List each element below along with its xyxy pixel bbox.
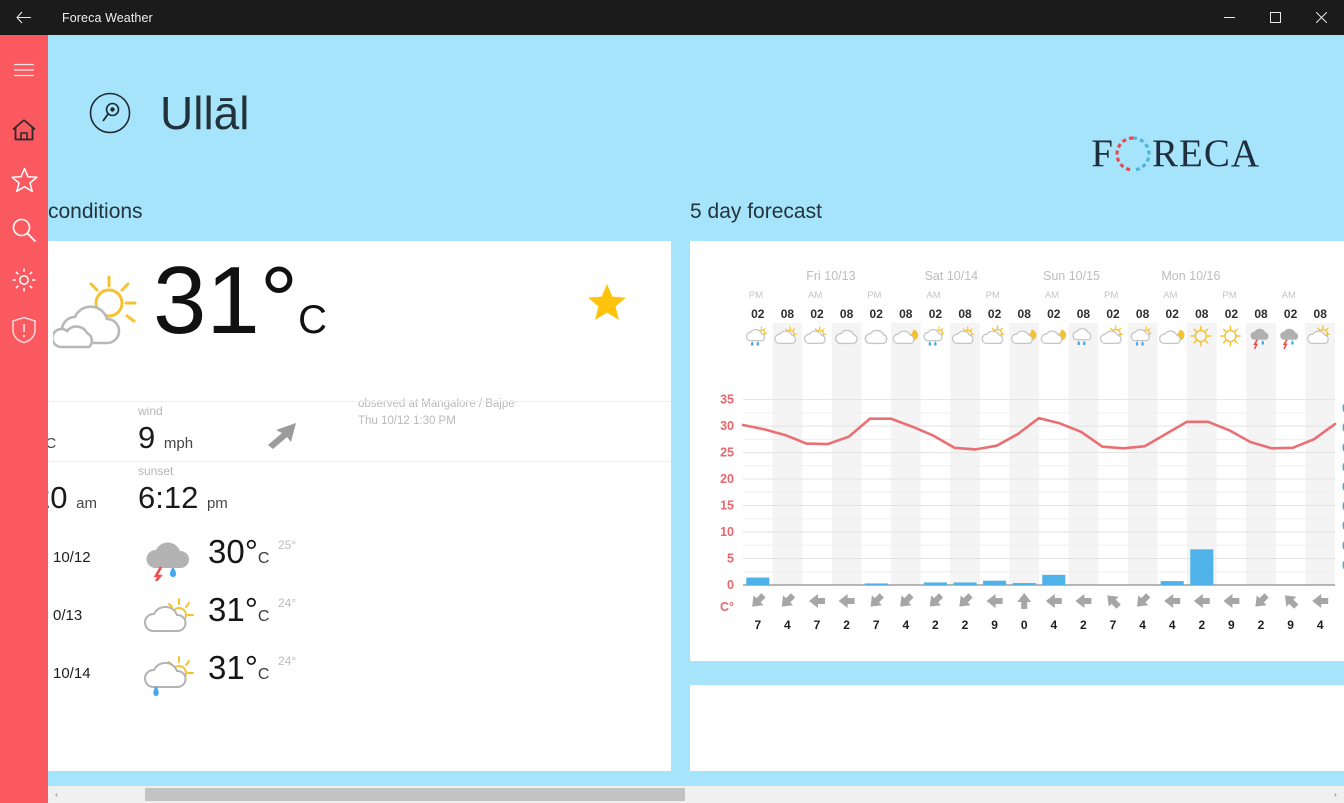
partly-sunny-icon <box>1101 326 1123 343</box>
foreca-logo: F RECA <box>1091 131 1260 176</box>
wind-direction-arrow-icon <box>747 590 768 611</box>
wind-direction-arrow-icon <box>1017 593 1031 609</box>
hamburger-menu-icon <box>14 63 34 77</box>
partly-cloudy-day-icon <box>53 271 148 356</box>
metric-wind: wind 9 mph <box>138 402 368 461</box>
daily-forecast-list: 10/12 30°C 25° 0/13 <box>48 531 671 705</box>
rain-shower-icon <box>924 327 944 346</box>
chart-ampm-label: AM <box>1163 290 1177 301</box>
chart-day-label: Mon 10/16 <box>1161 269 1220 283</box>
chart-ampm-label: PM <box>986 290 1000 301</box>
forecast-title: 5 day forecast <box>690 200 822 224</box>
gear-icon <box>11 267 37 293</box>
maximize-button[interactable] <box>1252 0 1298 35</box>
partly-sunny-icon <box>982 326 1004 343</box>
chart-hour-label: 08 <box>1018 307 1032 321</box>
forecast-date: 0/13 <box>53 607 82 624</box>
wind-speed-value: 2 <box>1080 618 1087 632</box>
chart-ampm-label: AM <box>926 290 940 301</box>
y-axis-tick: 15 <box>720 499 734 513</box>
precipitation-bar <box>924 582 947 585</box>
partly-cloudy-day-icon <box>805 327 826 344</box>
wind-speed-value: 9 <box>1287 618 1294 632</box>
chart-ampm-label: PM <box>1222 290 1236 301</box>
wind-direction-arrow-icon <box>809 594 825 608</box>
metric-row: e 20 am sunset 6:12 pm <box>48 461 671 521</box>
chart-hour-label: 02 <box>1225 307 1239 321</box>
chart-hour-label: 08 <box>1314 307 1328 321</box>
wind-speed-value: 2 <box>1198 618 1205 632</box>
back-button[interactable] <box>0 0 46 35</box>
wind-speed-value: 4 <box>1139 618 1146 632</box>
forecast-low: 24° <box>278 654 296 668</box>
wind-speed-value: 4 <box>784 618 791 632</box>
search-icon <box>11 217 37 243</box>
wind-direction-arrow-icon <box>260 420 298 450</box>
chart-hour-label: 02 <box>1284 307 1298 321</box>
chart-hour-label: 08 <box>840 307 854 321</box>
favorite-star-icon[interactable] <box>586 283 628 323</box>
current-temp-value: 31° <box>153 247 298 354</box>
metric-sunrise: e 20 am <box>48 462 138 521</box>
current-conditions-card: 31°C observed at Mangalore / Bajpe Thu 1… <box>48 241 671 771</box>
y-axis-tick: 20 <box>720 472 734 486</box>
chart-hour-label: 02 <box>1166 307 1180 321</box>
partly-cloudy-night-icon <box>1160 330 1185 344</box>
chart-hour-label: 08 <box>1195 307 1209 321</box>
logo-text-pre: F <box>1091 131 1114 176</box>
precipitation-bar <box>953 582 976 585</box>
forecast-low: 25° <box>278 538 296 552</box>
chart-ampm-label: AM <box>808 290 822 301</box>
chart-hour-label: 02 <box>810 307 824 321</box>
metric-grid: ike °C wind 9 mph e <box>48 401 671 521</box>
chart-hour-label: 08 <box>958 307 972 321</box>
metric-label: wind <box>138 404 163 418</box>
forecast-date: 10/12 <box>53 549 91 566</box>
window-title: Foreca Weather <box>62 11 153 25</box>
y-axis-tick: 0 <box>727 578 734 592</box>
metric-value: 20 am <box>48 480 97 516</box>
forecast-high: 31°C <box>208 649 269 687</box>
wind-direction-arrow-icon <box>839 594 855 608</box>
y-axis-tick: 35 <box>720 393 734 407</box>
sunny-icon <box>1221 326 1240 345</box>
precipitation-bar <box>1042 575 1065 585</box>
wind-direction-arrow-icon <box>1194 594 1210 608</box>
forecast-chart[interactable]: 35302520151050C°0.90.80.70.60.50.40.30.2… <box>690 241 1344 661</box>
wind-speed-value: 7 <box>1110 618 1117 632</box>
extra-panel <box>690 685 1344 771</box>
wind-direction-arrow-icon <box>1312 594 1328 608</box>
scroll-thumb[interactable] <box>145 788 685 801</box>
y-axis-tick: 5 <box>727 552 734 566</box>
wind-speed-value: 0 <box>1021 618 1028 632</box>
wind-speed-value: 7 <box>873 618 880 632</box>
chart-day-label: Sun 10/15 <box>1043 269 1100 283</box>
wind-direction-arrow-icon <box>1075 594 1091 608</box>
sidebar-item-favorites[interactable] <box>0 155 48 205</box>
wind-direction-arrow-icon <box>1046 594 1062 608</box>
window-controls <box>1206 0 1344 35</box>
current-temperature: 31°C <box>153 253 327 349</box>
chart-hour-label: 08 <box>1254 307 1268 321</box>
metric-value: 9 mph <box>138 420 193 456</box>
wind-speed-value: 2 <box>932 618 939 632</box>
forecast-low: 24° <box>278 596 296 610</box>
chart-ampm-label: PM <box>867 290 881 301</box>
metric-label: sunset <box>138 464 173 478</box>
wind-speed-value: 4 <box>1317 618 1324 632</box>
page-title: Ullāl <box>160 90 249 136</box>
rain-shower-icon <box>746 327 766 346</box>
precipitation-bar <box>1013 583 1036 585</box>
wind-speed-value: 7 <box>814 618 821 632</box>
page-body: Ullāl F RECA conditio <box>48 35 1344 803</box>
title-bar: Foreca Weather <box>0 0 1344 35</box>
page-header: Ullāl <box>88 90 249 136</box>
partly-cloudy-rain-icon <box>143 655 195 697</box>
chart-ampm-label: AM <box>1282 290 1296 301</box>
sidebar-item-home[interactable] <box>0 105 48 155</box>
wind-speed-value: 4 <box>1050 618 1057 632</box>
metric-sunset: sunset 6:12 pm <box>138 462 368 521</box>
chart-hour-label: 02 <box>870 307 884 321</box>
partly-cloudy-night-icon <box>1041 330 1066 344</box>
current-temp-unit: C <box>298 298 327 342</box>
wind-direction-arrow-icon <box>1102 590 1123 611</box>
wind-speed-value: 2 <box>1258 618 1265 632</box>
current-main: 31°C observed at Mangalore / Bajpe Thu 1… <box>48 241 671 377</box>
thunderstorm-icon <box>1280 329 1298 349</box>
back-arrow-icon <box>16 11 31 24</box>
wind-speed-value: 2 <box>843 618 850 632</box>
thunderstorm-icon <box>143 539 195 581</box>
chart-hour-label: 08 <box>1136 307 1150 321</box>
forecast-high: 31°C <box>208 591 269 629</box>
forecast-date: 10/14 <box>53 665 91 682</box>
star-icon <box>11 167 38 193</box>
sidebar-item-warnings[interactable] <box>0 305 48 355</box>
sidebar-item-search[interactable] <box>0 205 48 255</box>
y-axis-tick: 30 <box>720 419 734 433</box>
precipitation-bar <box>983 581 1006 585</box>
wind-direction-arrow-icon <box>895 590 916 611</box>
logo-text-post: RECA <box>1152 131 1260 176</box>
wind-direction-arrow-icon <box>1132 590 1153 611</box>
wind-speed-value: 2 <box>962 618 969 632</box>
precipitation-bar <box>746 578 769 585</box>
wind-speed-value: 9 <box>1228 618 1235 632</box>
metric-value: °C <box>48 420 56 456</box>
wind-direction-arrow-icon <box>777 590 798 611</box>
home-icon <box>11 118 37 142</box>
scroll-right-arrow[interactable]: › <box>1327 786 1344 803</box>
wind-speed-value: 4 <box>1169 618 1176 632</box>
precipitation-bar <box>1161 581 1184 585</box>
chart-day-label: Fri 10/13 <box>806 269 855 283</box>
page-content: Ullāl F RECA conditio <box>48 35 1344 787</box>
horizontal-scrollbar[interactable]: ‹ › <box>48 786 1344 803</box>
close-button[interactable] <box>1298 0 1344 35</box>
list-item[interactable]: 10/14 31°C 24° <box>48 647 671 705</box>
precipitation-bar <box>1190 549 1213 585</box>
sidebar-item-settings[interactable] <box>0 255 48 305</box>
wind-direction-arrow-icon <box>925 590 946 611</box>
chart-ampm-label: PM <box>1104 290 1118 301</box>
wind-direction-arrow-icon <box>987 594 1003 608</box>
wind-direction-arrow-icon <box>1280 590 1301 611</box>
forecast-chart-svg: 35302520151050C°0.90.80.70.60.50.40.30.2… <box>690 241 1344 661</box>
chart-hour-label: 08 <box>899 307 913 321</box>
y-axis-unit: C° <box>720 600 734 614</box>
close-icon <box>1316 12 1327 23</box>
chart-hour-label: 02 <box>1047 307 1061 321</box>
app-window: Foreca Weather <box>0 0 1344 803</box>
wind-direction-arrow-icon <box>954 590 975 611</box>
scroll-left-arrow[interactable]: ‹ <box>48 786 65 803</box>
maximize-icon <box>1270 12 1281 23</box>
chart-ampm-label: AM <box>1045 290 1059 301</box>
y-axis-tick: 10 <box>720 525 734 539</box>
chart-hour-label: 08 <box>1077 307 1091 321</box>
chart-hour-label: 02 <box>751 307 765 321</box>
chart-hour-label: 02 <box>988 307 1002 321</box>
minimize-button[interactable] <box>1206 0 1252 35</box>
metric-value: 6:12 pm <box>138 480 228 516</box>
wind-direction-arrow-icon <box>1250 590 1271 611</box>
chart-day-label: Sat 10/14 <box>925 269 979 283</box>
y-axis-tick: 25 <box>720 446 734 460</box>
wind-speed-value: 7 <box>754 618 761 632</box>
navigation-rail <box>0 35 48 803</box>
chart-hour-label: 08 <box>781 307 795 321</box>
list-item[interactable]: 10/12 30°C 25° <box>48 531 671 589</box>
scroll-track[interactable] <box>65 786 1327 803</box>
current-conditions-title: conditions <box>48 200 143 224</box>
metric-feels-like: ike °C <box>48 402 138 461</box>
cloudy-icon <box>865 330 886 343</box>
wind-speed-value: 9 <box>991 618 998 632</box>
list-item[interactable]: 0/13 31°C 24° <box>48 589 671 647</box>
chart-hour-label: 02 <box>929 307 943 321</box>
sidebar-item-menu[interactable] <box>0 45 48 95</box>
partly-cloudy-day-icon <box>143 597 195 639</box>
chart-ampm-label: PM <box>749 290 763 301</box>
chart-hour-label: 02 <box>1106 307 1120 321</box>
wind-speed-value: 4 <box>902 618 909 632</box>
wind-direction-arrow-icon <box>1223 594 1239 608</box>
minimize-icon <box>1224 12 1235 23</box>
search-location-icon[interactable] <box>88 91 132 135</box>
wind-direction-arrow-icon <box>866 590 887 611</box>
logo-sun-icon <box>1114 134 1152 174</box>
forecast-high: 30°C <box>208 533 269 571</box>
shield-alert-icon <box>11 316 37 344</box>
wind-direction-arrow-icon <box>1164 594 1180 608</box>
metric-row: ike °C wind 9 mph <box>48 401 671 461</box>
precipitation-bar <box>865 583 888 585</box>
